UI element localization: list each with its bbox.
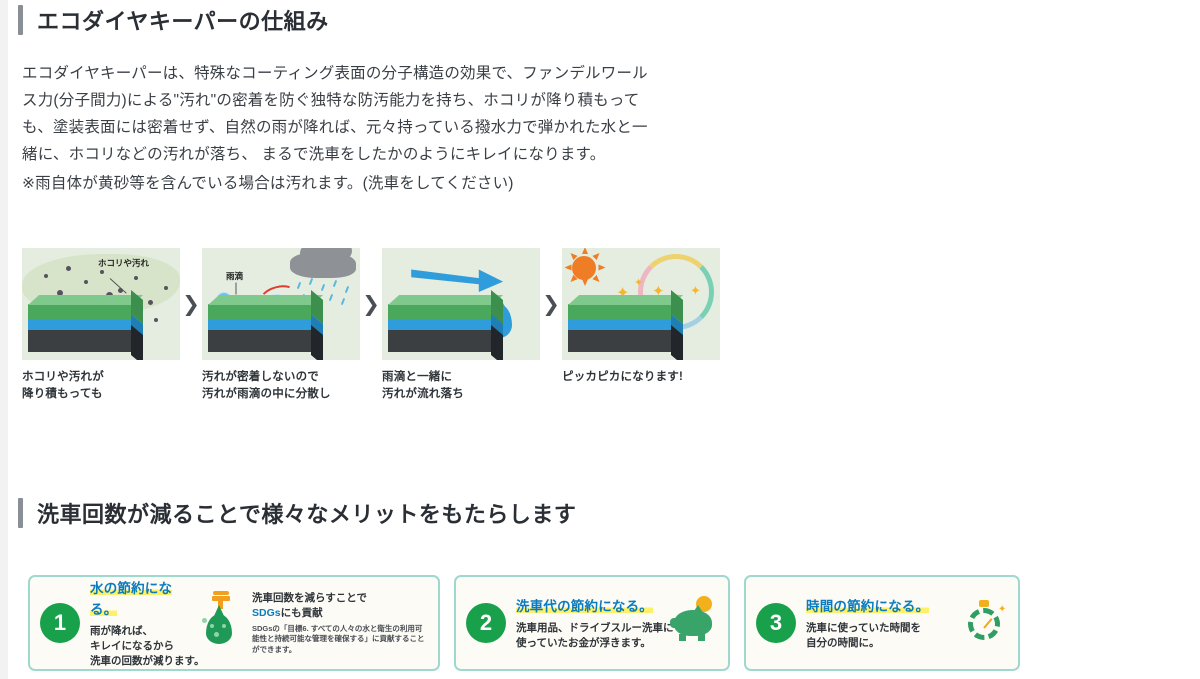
- caption-line: 汚れが雨滴の中に分散し: [202, 386, 360, 403]
- substrate-layer: [568, 330, 672, 352]
- sparkle-icon: ✦: [998, 604, 1006, 615]
- piggy-bank-snout: [670, 618, 682, 628]
- benefit-body: 洗車用品、ドライブスルー洗車に 使っていたお金が浮きます。: [516, 621, 664, 651]
- sun-ray: [592, 275, 601, 284]
- substrate-layer: [208, 330, 312, 352]
- description-line: ス力(分子間力)による"汚れ"の密着を防ぐ独特な防汚能力を持ち、ホコリが降り積も…: [22, 87, 782, 114]
- coating-layer-green: [388, 304, 492, 319]
- benefit-body-line: キレイになるから: [90, 639, 190, 654]
- coating-top-surface: [208, 295, 323, 305]
- callout-leader-line: [236, 283, 237, 295]
- sun-ray: [592, 251, 601, 260]
- description-note: ※雨自体が黄砂等を含んでいる場合は汚れます。(洗車をしてください): [22, 170, 782, 197]
- benefit-body-line: 使っていたお金が浮きます。: [516, 636, 664, 651]
- bubble-icon: [202, 618, 207, 623]
- piggy-bank-leg: [679, 634, 686, 641]
- coating-layer-green: [28, 304, 132, 319]
- sdgs-note-line: SDGsにも貢献: [252, 606, 428, 621]
- coating-layer-blue: [568, 319, 672, 330]
- page-title: エコダイヤキーパーの仕組み: [37, 4, 329, 36]
- description-line: エコダイヤキーパーは、特殊なコーティング表面の分子構造の効果で、ファンデルワール: [22, 60, 782, 87]
- coating-cross-section: [568, 304, 672, 352]
- process-step-2-illustration: 雨滴: [202, 248, 360, 360]
- raindrop-label: 雨滴: [226, 270, 243, 282]
- heading-accent-bar: [18, 498, 23, 528]
- dust-label: ホコリや汚れ: [98, 257, 149, 269]
- benefit-body: 洗車に使っていた時間を 自分の時間に。: [806, 621, 954, 651]
- benefit-body: 雨が降れば、 キレイになるから 洗車の回数が減ります。: [90, 624, 190, 669]
- process-step-4-illustration: ✦ ✦ ✦ ✦ ✦: [562, 248, 720, 360]
- water-saving-icon-group: [196, 594, 244, 652]
- sun-ray: [565, 265, 572, 271]
- coating-cross-section: [208, 304, 312, 352]
- coating-cross-section: [28, 304, 132, 352]
- benefit-number-badge: 1: [40, 603, 80, 643]
- benefits-title: 洗車回数が減ることで様々なメリットをもたらします: [37, 497, 576, 529]
- stopwatch-icon-group: ✦: [960, 594, 1008, 652]
- benefit-cards: 1 水の節約になる。 雨が降れば、 キレイになるから 洗車の回数が減ります。: [28, 575, 1020, 671]
- caption-line: 汚れが流れ落ち: [382, 386, 540, 403]
- left-gutter: [0, 0, 8, 679]
- benefit-body-line: 洗車の回数が減ります。: [90, 654, 190, 669]
- chevron-right-icon-3: ❯: [540, 248, 562, 360]
- dust-particle: [100, 270, 104, 274]
- mechanism-description: エコダイヤキーパーは、特殊なコーティング表面の分子構造の効果で、ファンデルワール…: [22, 60, 782, 197]
- stopwatch-icon: [968, 608, 1000, 640]
- coating-layer-blue: [208, 319, 312, 330]
- bubble-icon: [222, 624, 226, 628]
- process-step-3-caption: 雨滴と一緒に 汚れが流れ落ち: [382, 369, 540, 403]
- coating-layer-green: [208, 304, 312, 319]
- benefit-body-line: 洗車に使っていた時間を: [806, 621, 954, 636]
- coating-cross-section: [388, 304, 492, 352]
- caption-line: ピッカピカになります!: [562, 369, 720, 386]
- benefit-card-2: 2 洗車代の節約になる。 洗車用品、ドライブスルー洗車に 使っていたお金が浮きま…: [454, 575, 730, 671]
- coating-top-surface: [568, 295, 683, 305]
- benefit-card-2-content: 洗車代の節約になる。 洗車用品、ドライブスルー洗車に 使っていたお金が浮きます。: [516, 595, 664, 651]
- substrate-layer: [388, 330, 492, 352]
- rain-streak: [341, 298, 345, 305]
- description-line: も、塗装表面には密着せず、自然の雨が降れば、元々持っている撥水力で弾かれた水と一: [22, 114, 782, 141]
- process-step-1: ホコリや汚れ ホコリや汚れが 降り積もっても: [22, 248, 180, 403]
- rain-streak: [333, 280, 337, 287]
- dust-particle: [134, 276, 138, 280]
- sdgs-note-line: 洗車回数を減らすことで: [252, 591, 428, 606]
- benefit-body-line: 自分の時間に。: [806, 636, 954, 651]
- sdgs-note-detail: SDGsの「目標6. すべての人々の水と衛生の利用可能性と持続可能な管理を確保す…: [252, 624, 428, 656]
- benefit-number-badge: 2: [466, 603, 506, 643]
- benefit-body-line: 雨が降れば、: [90, 624, 190, 639]
- coating-layer-green: [568, 304, 672, 319]
- coating-top-surface: [28, 295, 143, 305]
- caption-line: 汚れが密着しないので: [202, 369, 360, 386]
- rain-streak: [321, 284, 325, 291]
- caption-line: 降り積もっても: [22, 386, 180, 403]
- runoff-arrow-icon: [404, 266, 512, 292]
- substrate-layer: [28, 330, 132, 352]
- water-droplet-icon: [206, 614, 232, 644]
- rain-streak: [329, 294, 333, 301]
- process-step-3-illustration: [382, 248, 540, 360]
- process-step-2-caption: 汚れが密着しないので 汚れが雨滴の中に分散し: [202, 369, 360, 403]
- coating-layer-blue: [28, 319, 132, 330]
- coating-top-surface: [388, 295, 503, 305]
- process-step-1-illustration: ホコリや汚れ: [22, 248, 180, 360]
- stopwatch-crown: [979, 600, 989, 607]
- sparkle-icon: ✦: [634, 278, 643, 289]
- sparkle-icon: ✦: [690, 284, 701, 297]
- sdgs-note-heading: 洗車回数を減らすことで SDGsにも貢献: [252, 591, 428, 621]
- benefit-card-3-content: 時間の節約になる。 洗車に使っていた時間を 自分の時間に。: [806, 595, 954, 651]
- dust-particle: [154, 318, 158, 322]
- dust-particle: [84, 280, 88, 284]
- benefit-body-line: 洗車用品、ドライブスルー洗車に: [516, 621, 664, 636]
- caption-line: 雨滴と一緒に: [382, 369, 540, 386]
- process-step-3: 雨滴と一緒に 汚れが流れ落ち: [382, 248, 540, 403]
- sun-ray: [599, 265, 606, 271]
- sdgs-keyword: SDGs: [252, 607, 281, 619]
- rain-streak: [297, 282, 301, 289]
- benefit-card-3: 3 時間の節約になる。 洗車に使っていた時間を 自分の時間に。 ✦: [744, 575, 1020, 671]
- faucet-icon: [213, 591, 229, 595]
- coating-layer-blue: [388, 319, 492, 330]
- rain-streak: [309, 278, 313, 285]
- sun-ray: [582, 279, 588, 286]
- benefit-title: 時間の節約になる。: [806, 599, 929, 614]
- rain-streak: [345, 286, 349, 293]
- benefit-card-1: 1 水の節約になる。 雨が降れば、 キレイになるから 洗車の回数が減ります。: [28, 575, 440, 671]
- dust-particle: [44, 274, 48, 278]
- process-step-4: ✦ ✦ ✦ ✦ ✦ ピッカピカになります!: [562, 248, 720, 386]
- sun-ray: [582, 248, 588, 254]
- chevron-right-icon-2: ❯: [360, 248, 382, 360]
- bubble-icon: [210, 624, 214, 628]
- caption-line: ホコリや汚れが: [22, 369, 180, 386]
- dust-particle: [164, 286, 168, 290]
- process-step-4-caption: ピッカピカになります!: [562, 369, 720, 386]
- benefit-card-1-content: 水の節約になる。 雨が降れば、 キレイになるから 洗車の回数が減ります。: [90, 577, 190, 669]
- process-step-1-caption: ホコリや汚れが 降り積もっても: [22, 369, 180, 403]
- dust-particle: [66, 266, 71, 271]
- benefit-title: 洗車代の節約になる。: [516, 599, 653, 614]
- page-root: エコダイヤキーパーの仕組み エコダイヤキーパーは、特殊なコーティング表面の分子構…: [0, 0, 1200, 679]
- piggy-bank-icon-group: [670, 594, 718, 652]
- benefits-section-heading: 洗車回数が減ることで様々なメリットをもたらします: [18, 497, 576, 529]
- piggy-bank-leg: [698, 634, 705, 641]
- bubble-icon: [214, 632, 219, 637]
- heading-accent-bar: [18, 5, 23, 35]
- benefit-number-badge: 3: [756, 603, 796, 643]
- description-line: 緒に、ホコリなどの汚れが落ち、 まるで洗車をしたかのようにキレイになります。: [22, 141, 782, 168]
- benefit-title: 水の節約になる。: [90, 581, 172, 617]
- rain-cloud-icon: [290, 252, 356, 278]
- chevron-right-icon-1: ❯: [180, 248, 202, 360]
- dust-particle: [148, 300, 153, 305]
- process-diagram: ホコリや汚れ ホコリや汚れが 降り積もっても ❯: [22, 248, 720, 403]
- sdgs-note: 洗車回数を減らすことで SDGsにも貢献 SDGsの「目標6. すべての人々の水…: [252, 591, 428, 656]
- mechanism-section-heading: エコダイヤキーパーの仕組み: [18, 4, 329, 36]
- process-step-2: 雨滴 汚れが密着しない: [202, 248, 360, 403]
